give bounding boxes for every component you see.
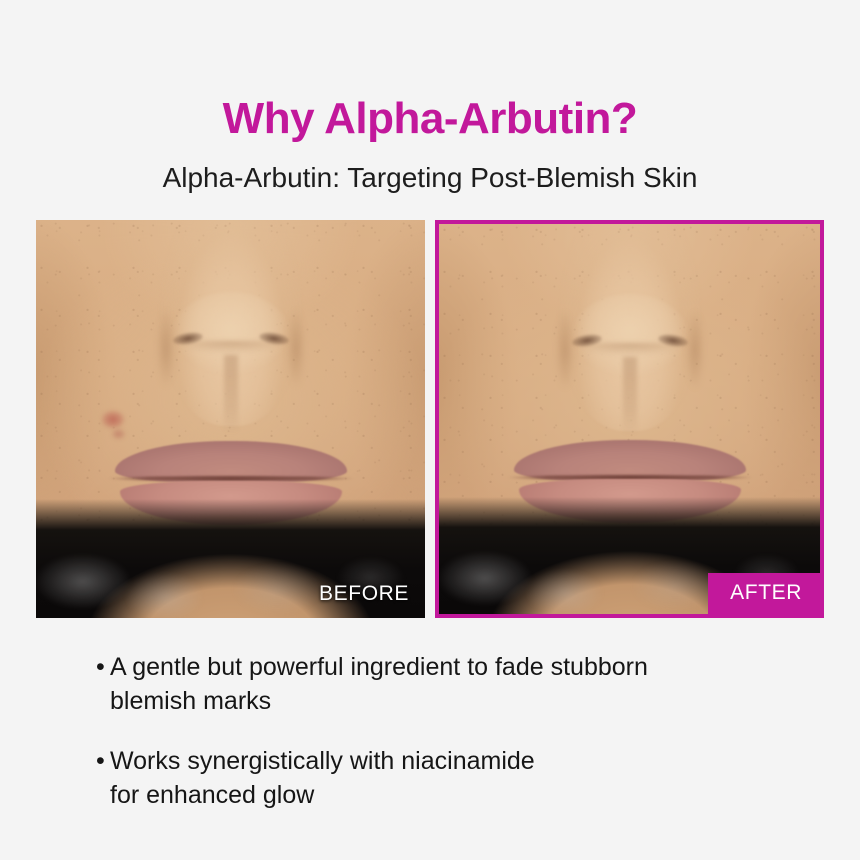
before-face-image <box>36 220 425 618</box>
bullet-marker: • <box>96 650 110 684</box>
before-label: BEFORE <box>319 582 409 606</box>
blemish-cheek <box>102 411 124 428</box>
promo-poster: Why Alpha-Arbutin? Alpha-Arbutin: Target… <box>0 0 860 860</box>
after-label: AFTER <box>708 573 820 614</box>
benefit-text: A gentle but powerful ingredient to fade… <box>110 650 796 718</box>
blemish-cheek-secondary <box>112 429 125 439</box>
bullet-marker: • <box>96 744 110 778</box>
philtrum <box>224 355 238 433</box>
before-photo-card: BEFORE <box>36 220 425 618</box>
before-after-comparison: BEFORE AFTE <box>36 220 824 618</box>
benefit-text: Works synergistically with niacinamide f… <box>110 744 796 812</box>
benefits-list: • A gentle but powerful ingredient to fa… <box>96 650 796 838</box>
page-subtitle: Alpha-Arbutin: Targeting Post-Blemish Sk… <box>0 161 860 195</box>
page-title: Why Alpha-Arbutin? <box>0 95 860 143</box>
after-photo-card: AFTER <box>435 220 824 618</box>
list-item: • Works synergistically with niacinamide… <box>96 744 796 812</box>
list-item: • A gentle but powerful ingredient to fa… <box>96 650 796 718</box>
after-face-image <box>439 224 820 614</box>
philtrum <box>623 357 637 435</box>
